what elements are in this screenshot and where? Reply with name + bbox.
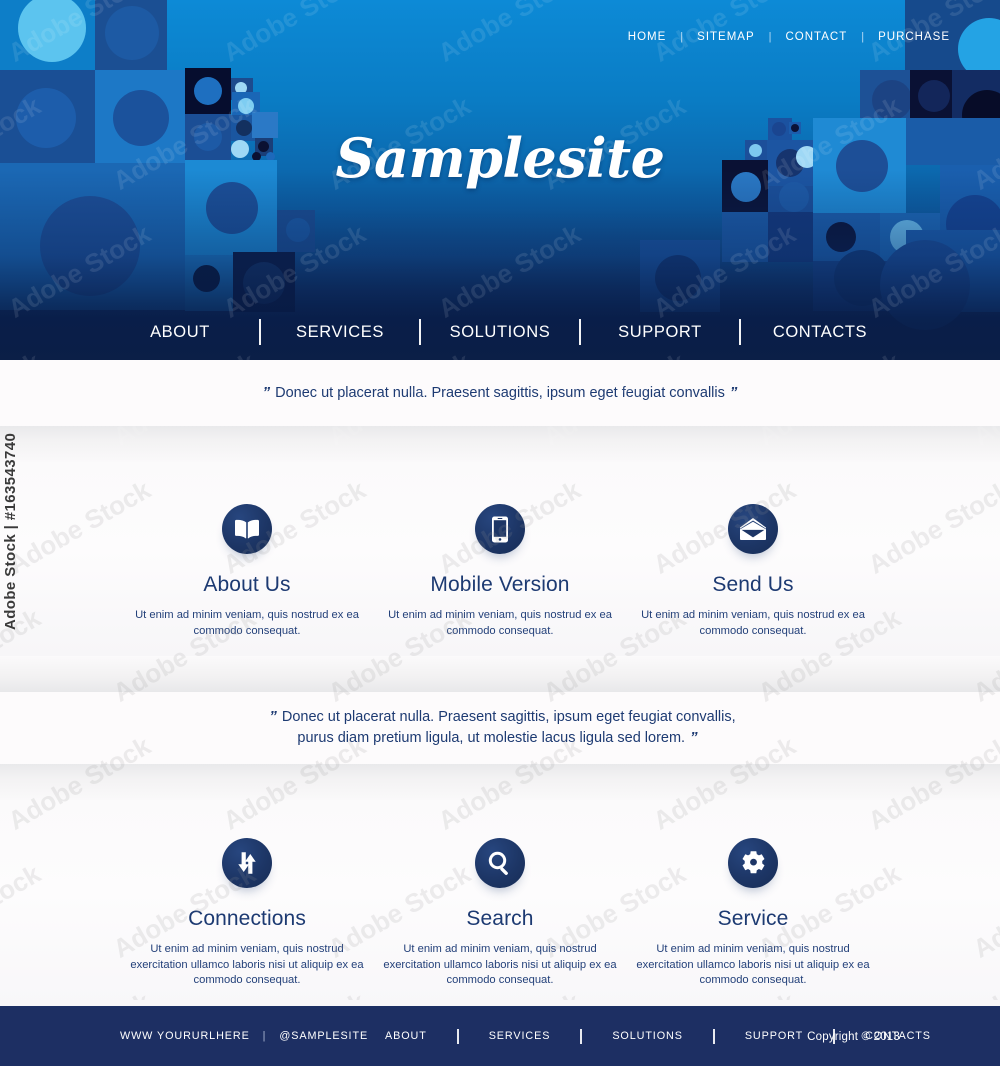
copyright-text: Copyright © 2013 [807,1031,900,1043]
footer-link-services[interactable]: SERVICES [459,1030,581,1042]
feature-card-send-us[interactable]: Send Us Ut enim ad minim veniam, quis no… [627,504,880,656]
open-book-icon[interactable] [222,504,272,554]
footer-link-about[interactable]: ABOUT [355,1030,457,1042]
feature-title: Service [627,907,880,931]
feature-body: Ut enim ad minim veniam, quis nostrud ex… [121,942,374,989]
topnav-item-contact[interactable]: CONTACT [772,31,862,43]
topnav-item-home[interactable]: HOME [614,31,681,43]
footer-copyright: Copyright © 2013 [807,1027,900,1045]
feature-title: Mobile Version [374,573,627,597]
mainnav-separator [739,319,741,345]
feature-card-service[interactable]: Service Ut enim ad minim veniam, quis no… [627,838,880,1006]
site-header: HOME | SITEMAP | CONTACT | PURCHASE Samp… [0,0,1000,360]
footer-nav-separator [580,1029,582,1044]
feature-body: Ut enim ad minim veniam, quis nostrud ex… [121,608,374,639]
topnav-separator: | [680,31,683,43]
tagline-quote-band-middle: ”Donec ut placerat nulla. Praesent sagit… [0,692,1000,764]
mainnav-item-services[interactable]: SERVICES [261,323,419,342]
footer-link-solutions[interactable]: SOLUTIONS [582,1030,713,1042]
section-divider-gradient [0,426,1000,462]
up-down-arrows-icon[interactable] [222,838,272,888]
mainnav-item-about[interactable]: ABOUT [101,323,259,342]
feature-body: Ut enim ad minim veniam, quis nostrud ex… [627,608,880,639]
tagline-quote-line2: purus diam pretium ligula, ut molestie l… [297,730,685,746]
topnav-item-sitemap[interactable]: SITEMAP [683,31,768,43]
envelope-icon[interactable] [728,504,778,554]
feature-card-mobile-version[interactable]: Mobile Version Ut enim ad minim veniam, … [374,504,627,656]
top-navigation[interactable]: HOME | SITEMAP | CONTACT | PURCHASE [614,31,964,43]
section-divider-gradient [0,764,1000,800]
topnav-item-purchase[interactable]: PURCHASE [864,31,964,43]
site-logo[interactable]: Samplesite [0,126,1000,190]
features-section-primary: About Us Ut enim ad minim veniam, quis n… [0,462,1000,656]
section-divider-gradient [0,656,1000,692]
feature-card-about-us[interactable]: About Us Ut enim ad minim veniam, quis n… [121,504,374,656]
quote-mark-close: ” [725,384,743,401]
mainnav-separator [259,319,261,345]
footer-identity: WWW YOURURLHERE | @SAMPLESITE [120,1030,368,1042]
feature-body: Ut enim ad minim veniam, quis nostrud ex… [374,608,627,639]
mainnav-separator [419,319,421,345]
tagline-quote-line1: Donec ut placerat nulla. Praesent sagitt… [282,709,736,725]
feature-title: Connections [121,907,374,931]
topnav-separator: | [769,31,772,43]
footer-separator: | [263,1030,267,1042]
mainnav-item-support[interactable]: SUPPORT [581,323,739,342]
feature-card-connections[interactable]: Connections Ut enim ad minim veniam, qui… [121,838,374,1006]
magnifier-icon[interactable] [475,838,525,888]
feature-title: About Us [121,573,374,597]
quote-mark-open: ” [264,708,282,725]
footer-url-link[interactable]: WWW YOURURLHERE [120,1030,250,1042]
tagline-quote-text: Donec ut placerat nulla. Praesent sagitt… [275,385,725,401]
feature-body: Ut enim ad minim veniam, quis nostrud ex… [374,942,627,989]
quote-mark-open: ” [258,384,276,401]
topnav-separator: | [861,31,864,43]
tagline-quote-band-top: ”Donec ut placerat nulla. Praesent sagit… [0,360,1000,426]
site-footer: WWW YOURURLHERE | @SAMPLESITE ABOUT SERV… [0,1006,1000,1066]
main-navigation[interactable]: ABOUT SERVICES SOLUTIONS SUPPORT CONTACT… [0,310,1000,354]
quote-mark-close: ” [685,729,703,746]
mobile-phone-icon[interactable] [475,504,525,554]
feature-card-search[interactable]: Search Ut enim ad minim veniam, quis nos… [374,838,627,1006]
gear-icon[interactable] [728,838,778,888]
feature-body: Ut enim ad minim veniam, quis nostrud ex… [627,942,880,989]
mainnav-item-solutions[interactable]: SOLUTIONS [421,323,579,342]
footer-nav-separator [713,1029,715,1044]
feature-title: Send Us [627,573,880,597]
mainnav-item-contacts[interactable]: CONTACTS [741,323,899,342]
features-section-secondary: Connections Ut enim ad minim veniam, qui… [0,800,1000,1006]
footer-nav-separator [457,1029,459,1044]
mainnav-separator [579,319,581,345]
feature-title: Search [374,907,627,931]
